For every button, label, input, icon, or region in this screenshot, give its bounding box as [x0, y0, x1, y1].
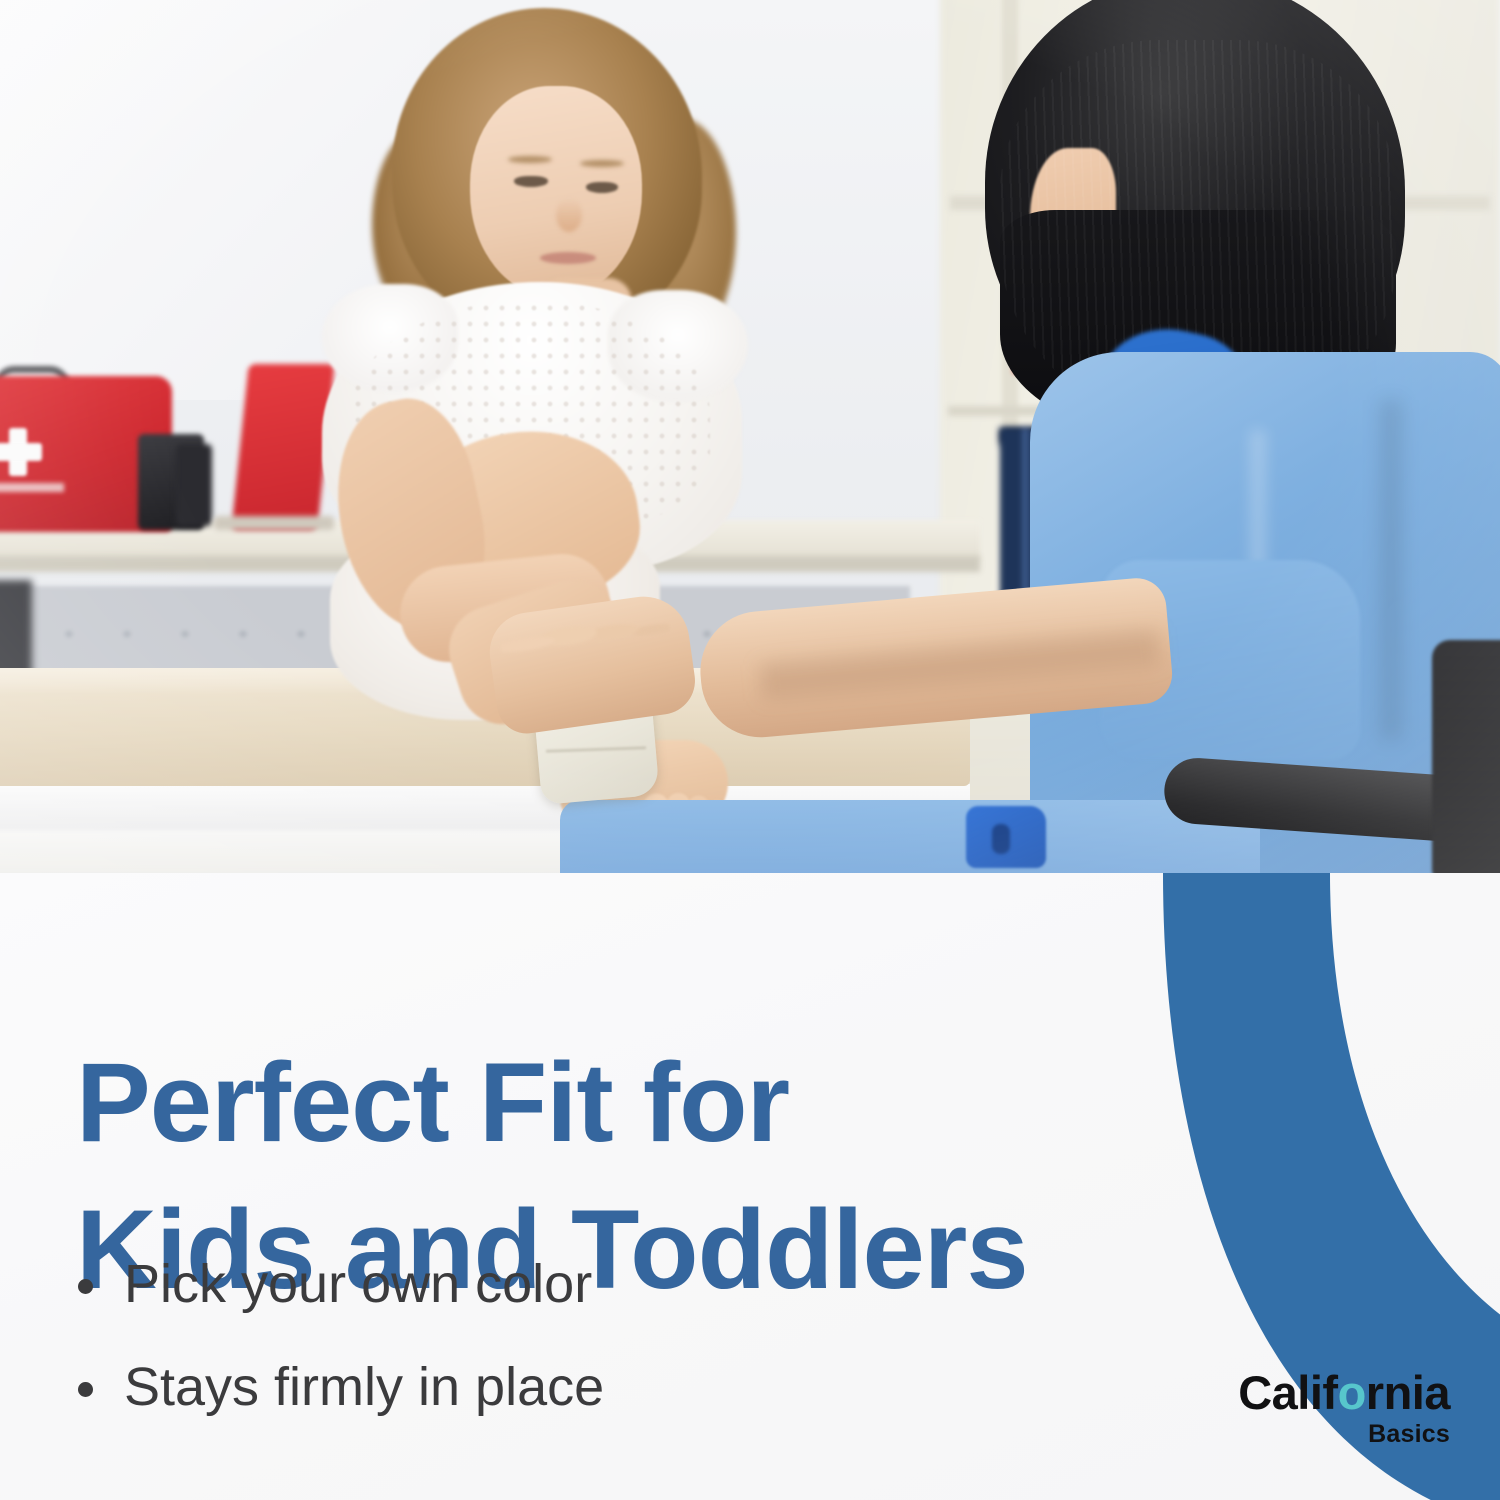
brand-name-part-2: rnia: [1366, 1366, 1450, 1419]
red-chair: [231, 364, 334, 530]
child-mouth: [540, 252, 596, 264]
bullet-text: Stays firmly in place: [124, 1357, 604, 1417]
bullet-text: Pick your own color: [124, 1254, 592, 1314]
child-eye-left: [514, 176, 548, 187]
scrub-fold-shadow: [1380, 400, 1402, 740]
child-eye-right: [586, 182, 618, 193]
child-nose: [556, 198, 582, 232]
chair-backrest: [1432, 640, 1500, 873]
product-marketing-image: Perfect Fit for Kids and Toddlers Pick y…: [0, 0, 1500, 1500]
first-aid-bag-label: [0, 483, 64, 492]
headline-line-1: Perfect Fit for: [76, 1040, 789, 1165]
list-item: Stays firmly in place: [72, 1358, 932, 1417]
brand-name-part-1: Calif: [1238, 1366, 1337, 1419]
list-item: Pick your own color: [72, 1255, 932, 1314]
desk-tray-items: [214, 516, 334, 530]
hero-photo: [0, 0, 1500, 873]
child-face: [470, 86, 642, 298]
marketing-text-panel: Perfect Fit for Kids and Toddlers Pick y…: [0, 873, 1500, 1500]
bandage-roll-core: [992, 824, 1010, 854]
black-case-secondary: [176, 444, 212, 526]
child-eyebrow-right: [580, 160, 624, 167]
feature-bullet-list: Pick your own color Stays firmly in plac…: [72, 1255, 932, 1462]
brand-subtitle: Basics: [1120, 1422, 1450, 1447]
first-aid-cross-icon-bar: [0, 443, 42, 461]
nurse-scrub-pants: [560, 800, 1260, 873]
brand-logo: California Basics: [1120, 1369, 1450, 1447]
brand-name: California: [1120, 1369, 1450, 1416]
child-eyebrow-left: [508, 156, 552, 163]
brand-accent-letter: o: [1338, 1369, 1366, 1416]
